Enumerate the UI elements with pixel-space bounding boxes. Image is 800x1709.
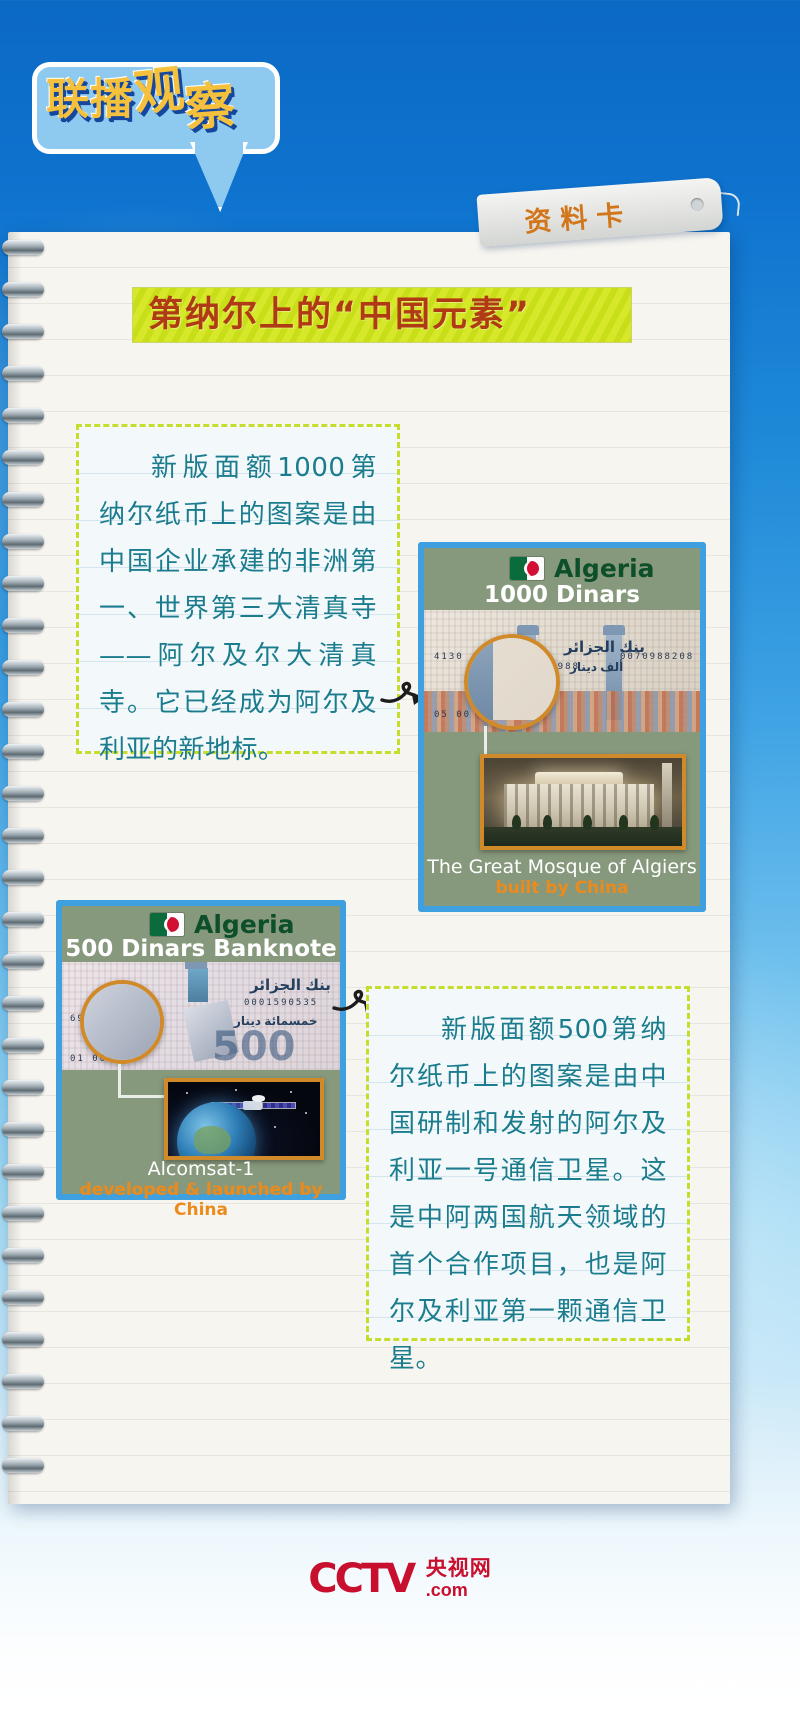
card-500-header: ★ Algeria 500 Dinars Banknote	[62, 906, 340, 962]
card-1000-caption: The Great Mosque of Algiers built by Chi…	[424, 856, 700, 898]
note-left-text: 新版面额1000第纳尔纸币上的图案是由中国企业承建的非洲第一、世界第三大清真寺—…	[99, 445, 377, 774]
spiral-ring	[2, 282, 44, 297]
cctv-wordmark: CCTV	[308, 1556, 413, 1602]
alcomsat-photo	[164, 1078, 324, 1160]
spiral-ring	[2, 240, 44, 255]
spiral-ring	[2, 1122, 44, 1137]
note-left: 新版面额1000第纳尔纸币上的图案是由中国企业承建的非洲第一、世界第三大清真寺—…	[76, 424, 400, 754]
card-500-banknote-image: 500 69 0001590535 01 000 بنك الجزائر خمس…	[62, 962, 340, 1070]
spiral-ring	[2, 576, 44, 591]
spiral-ring	[2, 492, 44, 507]
spiral-ring	[2, 1374, 44, 1389]
spiral-ring	[2, 786, 44, 801]
spiral-ring	[2, 366, 44, 381]
page-title: 第纳尔上的“中国元素”	[148, 292, 628, 338]
spiral-ring	[2, 954, 44, 969]
footer-logo: CCTV 央视网 .com	[0, 1556, 800, 1602]
spiral-ring	[2, 1206, 44, 1221]
card-1000-country: Algeria	[554, 554, 655, 583]
card-500-caption-main: Alcomsat-1	[62, 1158, 340, 1180]
satellite-dish-icon	[252, 1095, 266, 1102]
card-500-arabic-value: خمسمائة دينار	[234, 1014, 318, 1028]
card-500: ★ Algeria 500 Dinars Banknote 500 69 000…	[62, 906, 340, 1194]
cctv-cn-top: 央视网	[426, 1557, 492, 1580]
logo-char-1: 联	[46, 75, 90, 125]
spiral-ring	[2, 1332, 44, 1347]
spiral-ring	[2, 408, 44, 423]
logo-char-4: 察	[183, 80, 237, 133]
satellite-solar-panel	[262, 1102, 295, 1109]
spiral-ring	[2, 324, 44, 339]
card-1000-arabic-bank: بنك الجزائر	[564, 638, 645, 656]
spiral-ring	[2, 1080, 44, 1095]
spiral-ring	[2, 618, 44, 633]
card-1000-banknote-image: 4130 0070988 0070988208 05 00 بنك الجزائ…	[424, 610, 700, 732]
magnifier-loupe-icon	[464, 634, 560, 730]
card-500-country: Algeria	[194, 910, 295, 939]
card-500-denomination: 500 Dinars Banknote	[62, 936, 340, 962]
spiral-ring	[2, 828, 44, 843]
card-1000-serial: 4130	[434, 652, 464, 662]
magnifier-loupe-icon	[80, 980, 164, 1064]
satellite-body	[243, 1101, 263, 1110]
tower-icon	[188, 968, 208, 1002]
card-1000-arabic-value: ألف دينار	[570, 660, 623, 674]
spiral-ring	[2, 1038, 44, 1053]
spiral-ring	[2, 1248, 44, 1263]
spiral-ring	[2, 1458, 44, 1473]
spiral-ring	[2, 912, 44, 927]
tag-hole-icon	[690, 197, 704, 211]
note-right-text: 新版面额500第纳尔纸币上的图案是由中国研制和发射的阿尔及利亚一号通信卫星。这是…	[389, 1007, 667, 1383]
logo-char-2: 播	[90, 75, 134, 125]
data-card-tag-label: 资料卡	[523, 193, 634, 240]
note-right: 新版面额500第纳尔纸币上的图案是由中国研制和发射的阿尔及利亚一号通信卫星。这是…	[366, 986, 690, 1341]
card-500-serial: 0001590535	[244, 998, 318, 1008]
card-500-caption: Alcomsat-1 developed & launched by China	[62, 1158, 340, 1220]
cctv-cn-bottom: .com	[426, 1580, 468, 1600]
card-1000-caption-main: The Great Mosque of Algiers	[424, 856, 700, 878]
spiral-ring	[2, 660, 44, 675]
algeria-flag-icon: ★	[150, 913, 184, 936]
spiral-ring	[2, 534, 44, 549]
spiral-binding	[0, 240, 46, 1490]
algeria-flag-icon: ★	[510, 557, 544, 580]
spiral-ring	[2, 1416, 44, 1431]
great-mosque-photo	[480, 754, 686, 850]
card-500-arabic-bank: بنك الجزائر	[250, 976, 331, 994]
card-1000: ★ Algeria 1000 Dinars Banknote 4130 0070…	[424, 548, 700, 906]
card-1000-body: The Great Mosque of Algiers built by Chi…	[424, 732, 700, 906]
logo-text: 联播观察	[46, 72, 276, 122]
card-1000-caption-sub: built by China	[424, 878, 700, 898]
spiral-ring	[2, 702, 44, 717]
card-1000-header: ★ Algeria 1000 Dinars Banknote	[424, 548, 700, 610]
card-500-face-value: 500	[212, 1024, 296, 1070]
spiral-ring	[2, 744, 44, 759]
spiral-ring	[2, 1290, 44, 1305]
card-500-caption-sub: developed & launched by China	[62, 1180, 340, 1220]
spiral-ring	[2, 870, 44, 885]
card-500-body: Alcomsat-1 developed & launched by China	[62, 1070, 340, 1194]
cctv-cn-block: 央视网 .com	[426, 1558, 492, 1601]
spiral-ring	[2, 1164, 44, 1179]
logo-char-3: 观	[132, 63, 188, 118]
program-logo: 联播观察	[24, 58, 294, 193]
card-1000-serial: 05 00	[434, 710, 471, 720]
spiral-ring	[2, 996, 44, 1011]
card-500-leader-line	[118, 1064, 164, 1098]
spiral-ring	[2, 450, 44, 465]
